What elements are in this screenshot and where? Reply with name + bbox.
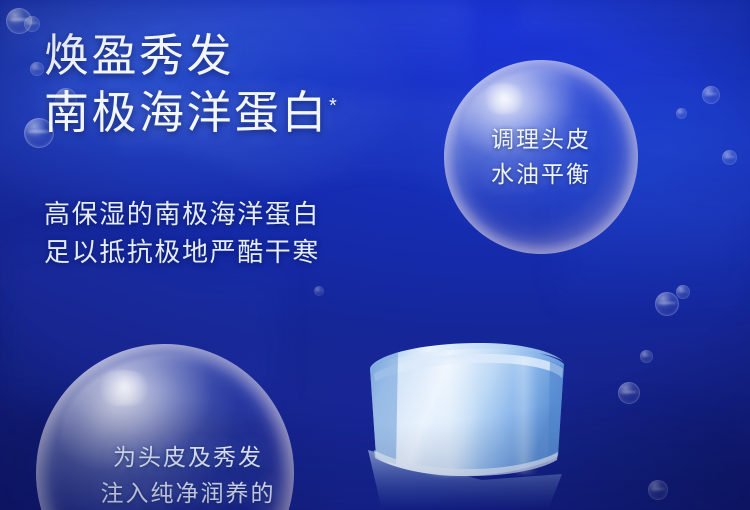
- headline-line-2-text: 南极海洋蛋白: [44, 87, 329, 138]
- bubble-left-text: 为头皮及秀发 注入纯净润养的 自然保湿力: [36, 344, 294, 510]
- product-bottle-image: [352, 334, 652, 510]
- mini-bubble-icon: [722, 150, 737, 165]
- mini-bubble-icon: [314, 286, 324, 296]
- bubble-right-line2: 水油平衡: [491, 157, 591, 192]
- mini-bubble-icon: [676, 285, 690, 299]
- mini-bubble-icon: [702, 86, 720, 104]
- headline-line-1: 焕盈秀发: [44, 28, 444, 85]
- subcopy-block: 高保湿的南极海洋蛋白 足以抵抗极地严酷干寒: [44, 196, 464, 271]
- headline-line-2: 南极海洋蛋白*: [44, 85, 444, 142]
- feature-bubble-right: 调理头皮 水油平衡: [444, 60, 638, 254]
- feature-bubble-left: 为头皮及秀发 注入纯净润养的 自然保湿力: [36, 344, 294, 510]
- product-banner: 调理头皮 水油平衡 为头皮及秀发 注入纯净润养的 自然保湿力 焕盈秀发 南极海洋…: [0, 0, 750, 510]
- mini-bubble-icon: [655, 292, 679, 316]
- mini-bubble-icon: [676, 108, 687, 119]
- mini-bubble-icon: [24, 16, 40, 32]
- mini-bubble-icon: [30, 62, 44, 76]
- subcopy-line-1: 高保湿的南极海洋蛋白: [44, 196, 464, 234]
- bubble-left-line2: 注入纯净润养的: [101, 476, 276, 510]
- subcopy-line-2: 足以抵抗极地严酷干寒: [44, 234, 464, 272]
- bubble-right-line1: 调理头皮: [491, 122, 591, 157]
- bubble-right-text: 调理头皮 水油平衡: [444, 60, 638, 254]
- headline-block: 焕盈秀发 南极海洋蛋白*: [44, 28, 444, 141]
- footnote-asterisk: *: [329, 95, 337, 117]
- bubble-left-line1: 为头皮及秀发: [113, 440, 263, 476]
